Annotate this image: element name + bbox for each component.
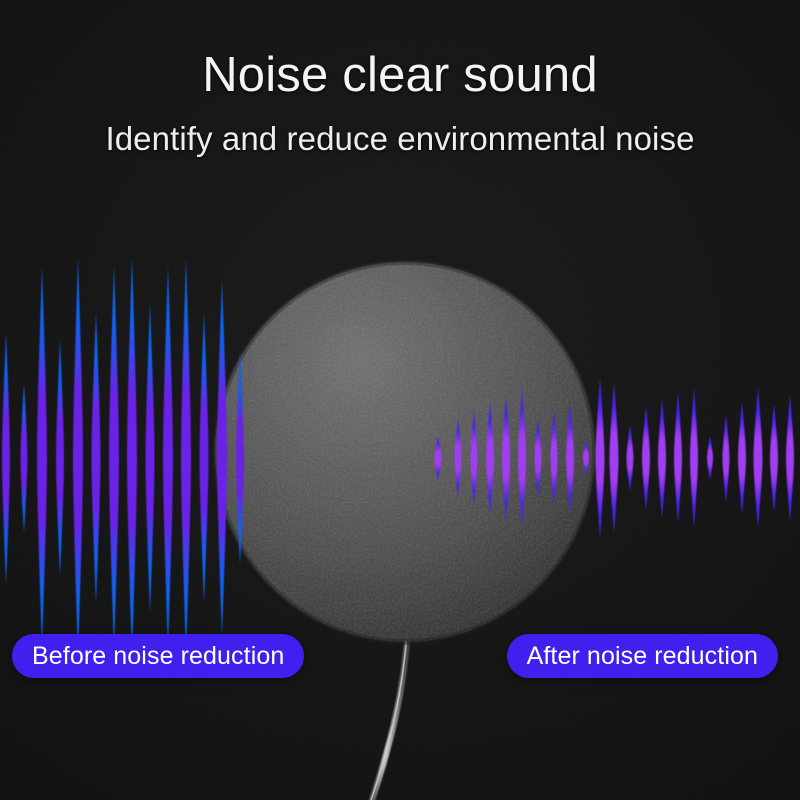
page-title: Noise clear sound xyxy=(0,50,800,102)
promo-graphic-canvas: Noise clear sound Identify and reduce en… xyxy=(0,0,800,800)
badge-before-noise-reduction[interactable]: Before noise reduction xyxy=(12,634,304,678)
badge-before-label: Before noise reduction xyxy=(32,642,284,671)
badge-after-label: After noise reduction xyxy=(527,642,758,671)
page-subtitle: Identify and reduce environmental noise xyxy=(0,121,800,157)
badge-after-noise-reduction[interactable]: After noise reduction xyxy=(507,634,778,678)
